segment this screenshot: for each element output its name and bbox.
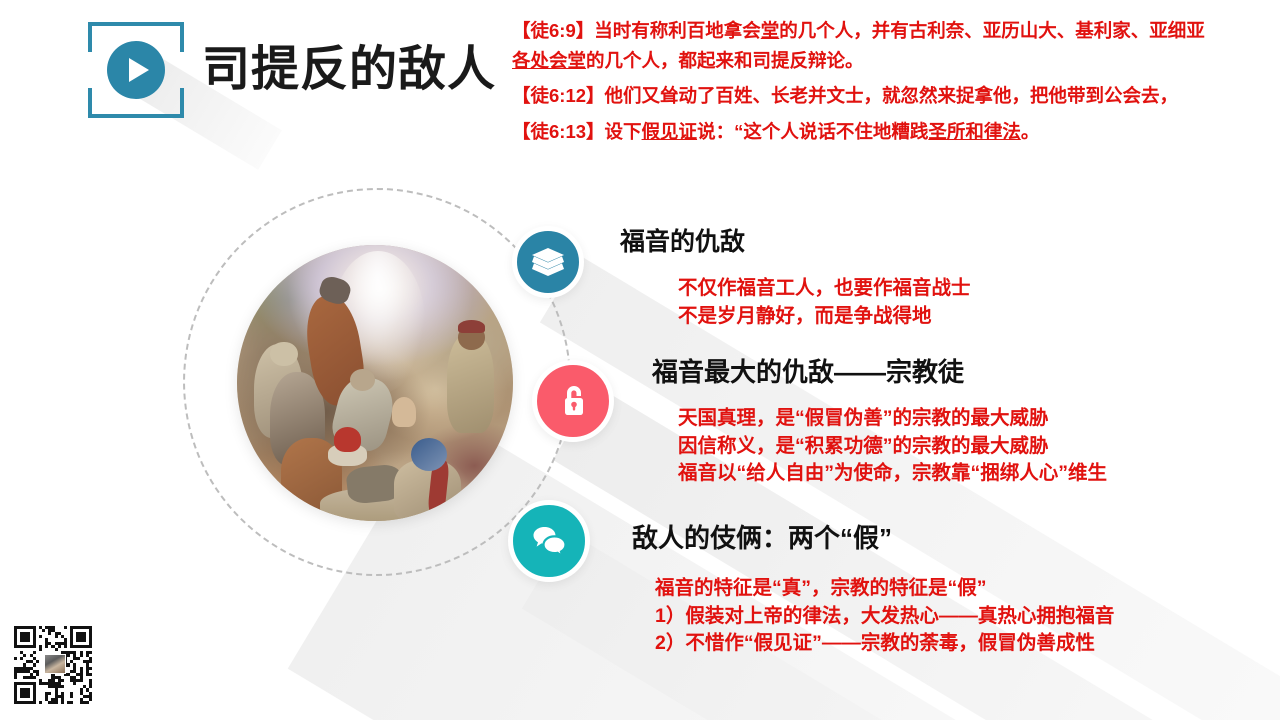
figure-left-a-head	[270, 342, 298, 367]
sidebar-item-gospel-enemies[interactable]	[512, 226, 584, 298]
unlock-icon	[556, 382, 590, 420]
scripture-text: 的几个人，并有古利奈、亚历山大、基利家、亚细亚	[779, 20, 1205, 41]
frame-right-lower	[180, 88, 184, 118]
scripture-reference: 【徒6:13】	[512, 121, 605, 142]
frame-top-edge	[88, 22, 184, 26]
scripture-reference: 【徒6:12】	[512, 85, 605, 106]
page-title: 司提反的敌人	[202, 46, 496, 94]
section-2-line-3: 福音以“给人自由”为使命，宗教靠“捆绑人心”维生	[678, 460, 1107, 488]
frame-right-upper	[180, 22, 184, 52]
section-1-body: 不仅作福音工人，也要作福音战士 不是岁月静好，而是争战得地	[678, 275, 971, 330]
section-2-heading: 福音最大的仇敌——宗教徒	[652, 358, 964, 387]
section-3-line-2: 1）假装对上帝的律法，大发热心——真热心拥抱福音	[655, 603, 1114, 631]
section-1-line-2: 不是岁月静好，而是争战得地	[678, 303, 971, 331]
figure-blue-turban	[411, 438, 447, 471]
section-2-line-2: 因信称义，是“积累功德”的宗教的最大威胁	[678, 433, 1107, 461]
scripture-underlined-text: 假见证	[642, 121, 698, 142]
section-3-heading: 敌人的伎俩：两个“假”	[632, 524, 892, 553]
scripture-text: 说：“这个人说话不住地糟践	[697, 121, 928, 142]
scripture-underlined-text: 各处会堂	[512, 50, 586, 71]
scripture-text: 的几个人，都起来和司提反辩论。	[586, 50, 864, 71]
section-1-line-1: 不仅作福音工人，也要作福音战士	[678, 275, 971, 303]
figure-red-turban	[334, 427, 362, 452]
play-button-icon[interactable]	[107, 41, 165, 99]
play-triangle-glyph	[129, 58, 149, 82]
scripture-verse: 【徒6:12】他们又耸动了百姓、长老并文士，就忽然来捉拿他，把他带到公会去，	[512, 81, 1212, 111]
title-frame-bracket	[88, 22, 184, 118]
scripture-reference: 【徒6:9】	[512, 20, 594, 41]
scripture-text: 设下	[605, 121, 642, 142]
figure-right-turban	[458, 320, 486, 334]
scripture-text: 。	[1021, 121, 1040, 142]
section-3-line-3: 2）不惜作“假见证”——宗教的荼毒，假冒伪善成性	[655, 630, 1114, 658]
scripture-verse: 【徒6:9】当时有称利百地拿会堂的几个人，并有古利奈、亚历山大、基利家、亚细亚各…	[512, 16, 1212, 75]
layers-icon	[531, 247, 565, 277]
raised-hands	[392, 397, 417, 427]
frame-bottom-edge	[88, 114, 184, 118]
qr-code-center-logo	[44, 654, 66, 674]
section-3-line-1: 福音的特征是“真”，宗教的特征是“假”	[655, 575, 1114, 603]
slide-title-block: 司提反的敌人	[88, 22, 496, 118]
stoning-painting	[237, 245, 513, 521]
painting-canvas	[237, 245, 513, 521]
frame-left-lower	[88, 88, 92, 118]
section-3-body: 福音的特征是“真”，宗教的特征是“假” 1）假装对上帝的律法，大发热心——真热心…	[655, 575, 1114, 658]
scripture-underlined-text: 圣所和律法	[928, 121, 1021, 142]
scripture-verse: 【徒6:13】设下假见证说：“这个人说话不住地糟践圣所和律法。	[512, 117, 1212, 147]
scripture-underlined-text: 堂	[761, 20, 780, 41]
section-2-line-1: 天国真理，是“假冒伪善”的宗教的最大威胁	[678, 405, 1107, 433]
section-2-body: 天国真理，是“假冒伪善”的宗教的最大威胁 因信称义，是“积累功德”的宗教的最大威…	[678, 405, 1107, 488]
scripture-text: 当时有称利百地拿会	[594, 20, 761, 41]
section-1-heading: 福音的仇敌	[620, 229, 745, 257]
qr-module	[89, 701, 92, 704]
scripture-block: 【徒6:9】当时有称利百地拿会堂的几个人，并有古利奈、亚历山大、基利家、亚细亚各…	[512, 16, 1212, 152]
sidebar-item-greatest-enemy[interactable]	[532, 360, 614, 442]
scripture-text: 他们又耸动了百姓、长老并文士，就忽然来捉拿他，把他带到公会去，	[605, 85, 1179, 106]
slide-canvas: 司提反的敌人 【徒6:9】当时有称利百地拿会堂的几个人，并有古利奈、亚历山大、基…	[0, 0, 1280, 720]
sidebar-item-enemy-tactics[interactable]	[508, 500, 590, 582]
frame-left-upper	[88, 22, 92, 52]
qr-code[interactable]	[14, 626, 92, 704]
chat-bubbles-icon	[531, 525, 567, 557]
